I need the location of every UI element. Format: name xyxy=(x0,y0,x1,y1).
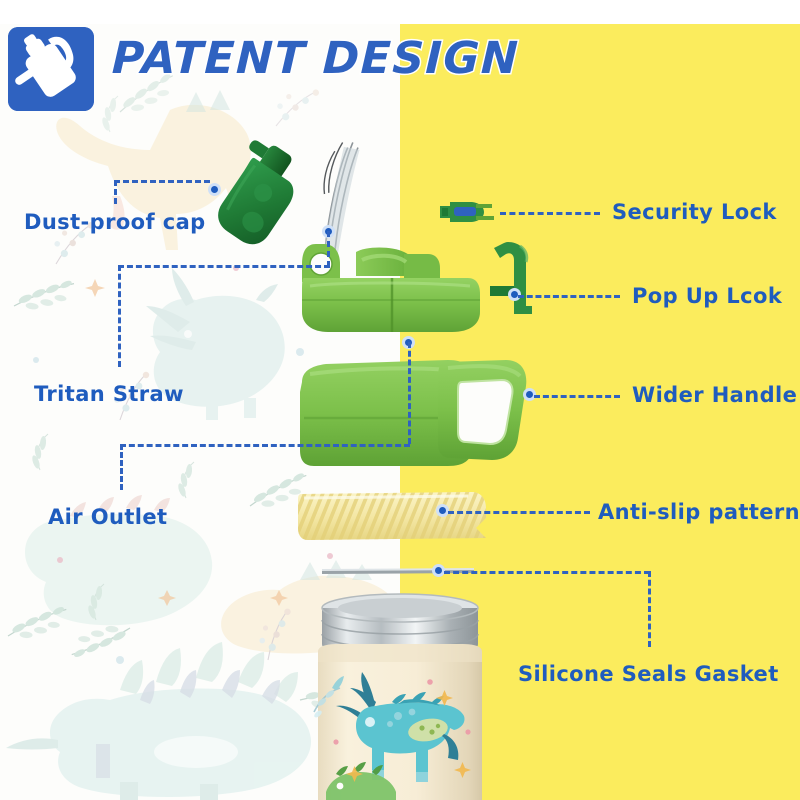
leader-air-outlet-v1 xyxy=(408,342,411,444)
callout-label-wider-handle: Wider Handle xyxy=(632,383,797,407)
handle-collar-part xyxy=(296,352,536,492)
leader-tritan-straw-h xyxy=(118,265,330,268)
callout-label-security-lock: Security Lock xyxy=(612,200,777,224)
callout-label-anti-slip-pattern: Anti-slip pattern xyxy=(598,500,800,524)
leader-air-outlet-v2 xyxy=(120,444,123,490)
security-lock-clip-part xyxy=(436,196,498,230)
leader-silicone-gasket-h xyxy=(444,571,650,574)
leader-dust-proof-cap-line xyxy=(114,180,210,183)
leader-wider-handle-line xyxy=(534,395,620,398)
water-bottle-icon xyxy=(8,27,94,111)
callout-label-tritan-straw: Tritan Straw xyxy=(34,382,184,406)
anti-slip-sleeve-part xyxy=(296,488,496,548)
leader-dust-proof-cap-stub xyxy=(114,180,117,204)
header-white-band xyxy=(0,0,800,24)
callout-label-air-outlet: Air Outlet xyxy=(48,505,167,529)
leader-dot-dust-proof-cap xyxy=(208,183,221,196)
page-title: PATENT DESIGN xyxy=(111,33,520,84)
leader-tritan-straw-v2 xyxy=(118,265,121,367)
infographic-canvas: PATENT DESIGN xyxy=(0,0,800,800)
callout-label-dust-proof-cap: Dust-proof cap xyxy=(24,210,206,234)
callout-label-pop-up-lock: Pop Up Lcok xyxy=(632,284,782,308)
leader-tritan-straw-v1 xyxy=(327,231,330,267)
leader-silicone-gasket-v xyxy=(648,571,651,647)
pop-up-lock-lever-part xyxy=(476,238,546,320)
leader-air-outlet-h xyxy=(120,444,410,447)
leader-anti-slip-line xyxy=(448,511,590,514)
callout-label-silicone-seals-gasket: Silicone Seals Gasket xyxy=(518,662,779,686)
leader-pop-up-lock-line xyxy=(518,295,620,298)
leader-security-lock-line xyxy=(500,212,600,215)
bottle-body-part xyxy=(292,592,508,800)
